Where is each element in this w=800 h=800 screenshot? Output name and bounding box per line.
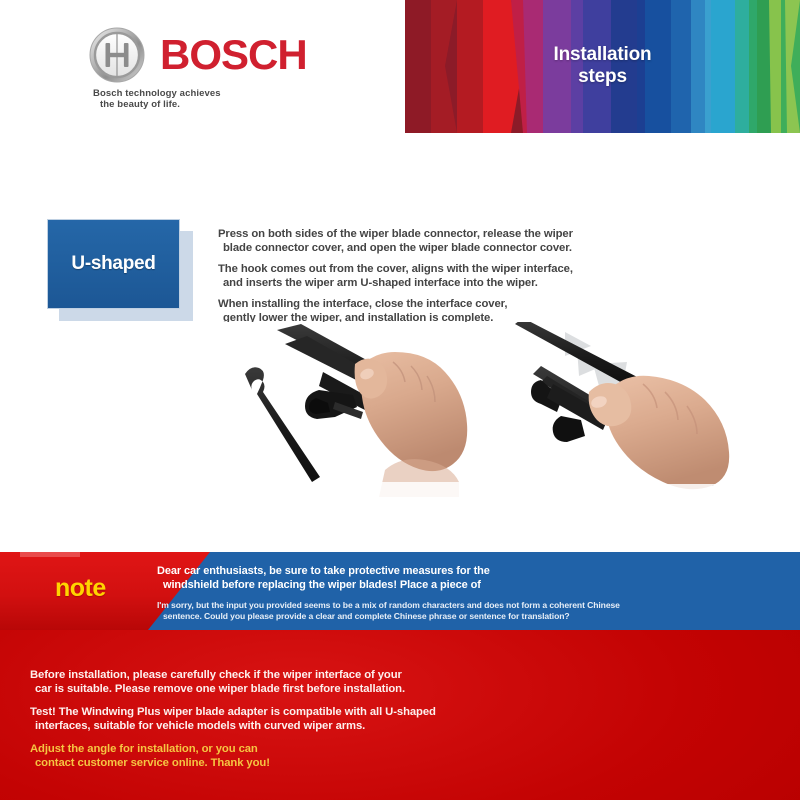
footer-paragraph-2-line2: interfaces, suitable for vehicle models … xyxy=(30,719,650,733)
banner-title-line1: Installation xyxy=(554,44,652,65)
note-main-line1: Dear car enthusiasts, be sure to take pr… xyxy=(157,565,490,577)
instruction-step-2: The hook comes out from the cover, align… xyxy=(218,263,688,290)
bosch-armature-logo-icon xyxy=(88,26,146,84)
footer-paragraph-1-line2: car is suitable. Please remove one wiper… xyxy=(30,682,650,696)
brand-tagline: Bosch technology achieves the beauty of … xyxy=(93,88,221,110)
note-band: note Dear car enthusiasts, be sure to ta… xyxy=(0,552,800,630)
footer-paragraph-2-line1: Test! The Windwing Plus wiper blade adap… xyxy=(30,706,436,718)
installation-photos xyxy=(215,322,785,497)
footer-paragraph-3-line2: contact customer service online. Thank y… xyxy=(30,756,650,770)
footer-text-block: Before installation, please carefully ch… xyxy=(30,668,650,779)
brand-block: BOSCH Bosch technology achieves the beau… xyxy=(88,26,388,111)
note-label: note xyxy=(55,574,106,603)
footer-paragraph-2: Test! The Windwing Plus wiper blade adap… xyxy=(30,705,650,733)
brand-tagline-line2: the beauty of life. xyxy=(93,99,221,110)
instruction-step-3: When installing the interface, close the… xyxy=(218,298,688,325)
note-sub-line1: I'm sorry, but the input you provided se… xyxy=(157,600,620,610)
u-shaped-badge-box: U-shaped xyxy=(47,219,180,309)
installation-guide-page: BOSCH Bosch technology achieves the beau… xyxy=(0,0,800,800)
page-header: BOSCH Bosch technology achieves the beau… xyxy=(0,0,800,135)
instruction-step-3-line1: When installing the interface, close the… xyxy=(218,298,507,310)
instruction-step-1-line1: Press on both sides of the wiper blade c… xyxy=(218,228,573,240)
banner-title: Installation steps xyxy=(405,44,800,88)
instruction-step-1: Press on both sides of the wiper blade c… xyxy=(218,228,688,255)
photo-press-connector xyxy=(215,322,485,497)
footer-paragraph-1: Before installation, please carefully ch… xyxy=(30,668,650,696)
footer-paragraph-1-line1: Before installation, please carefully ch… xyxy=(30,669,402,681)
instruction-step-1-line2: blade connector cover, and open the wipe… xyxy=(218,242,688,256)
banner-title-line2: steps xyxy=(405,66,800,88)
footer-paragraph-3-line1: Adjust the angle for installation, or yo… xyxy=(30,743,258,755)
note-sub-text: I'm sorry, but the input you provided se… xyxy=(157,600,777,622)
u-shaped-badge: U-shaped xyxy=(47,219,193,321)
note-main-text: Dear car enthusiasts, be sure to take pr… xyxy=(157,564,777,592)
instruction-step-2-line2: and inserts the wiper arm U-shaped inter… xyxy=(218,277,688,291)
u-shaped-badge-label: U-shaped xyxy=(71,253,155,275)
footer-red-panel: Before installation, please carefully ch… xyxy=(0,630,800,800)
note-main-line2: windshield before replacing the wiper bl… xyxy=(157,578,777,592)
brand-tagline-line1: Bosch technology achieves xyxy=(93,88,221,99)
instruction-steps: Press on both sides of the wiper blade c… xyxy=(218,228,688,333)
footer-paragraph-3: Adjust the angle for installation, or yo… xyxy=(30,742,650,770)
note-sub-line2: sentence. Could you please provide a cle… xyxy=(157,611,777,622)
bosch-wordmark: BOSCH xyxy=(160,34,307,76)
instruction-step-2-line1: The hook comes out from the cover, align… xyxy=(218,263,573,275)
installation-steps-banner: Installation steps xyxy=(405,0,800,133)
photo-close-interface-cover xyxy=(515,322,785,497)
